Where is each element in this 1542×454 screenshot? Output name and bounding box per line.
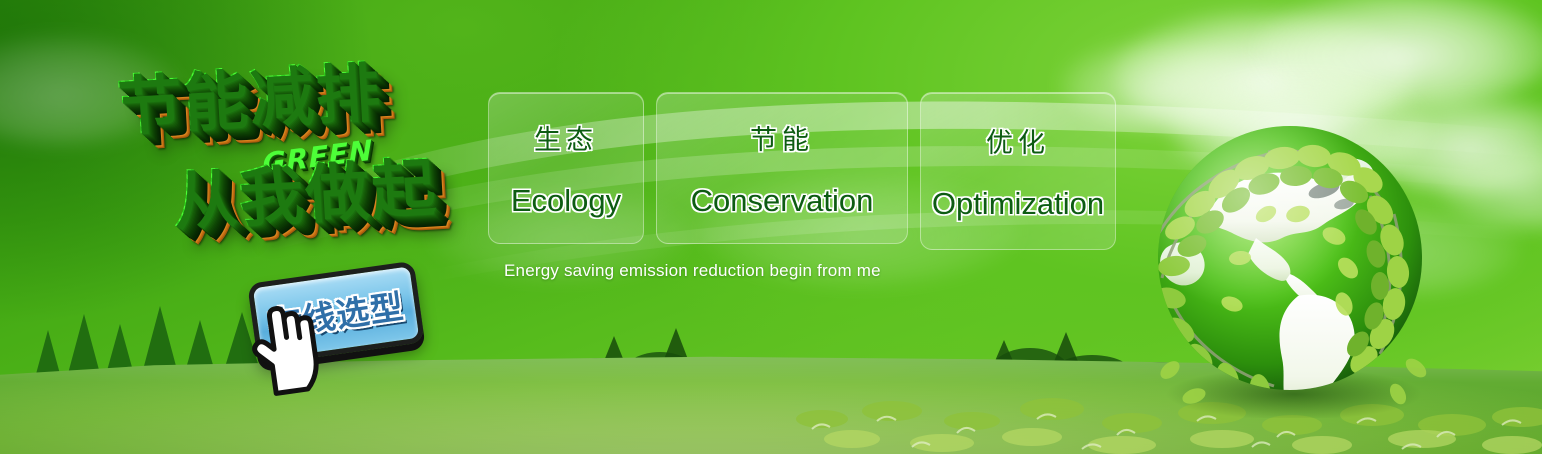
- feature-card-cn-label: 节能: [750, 118, 814, 157]
- hero-line-2: 从我做起: [170, 136, 439, 243]
- feature-card-cn-label: 生态: [534, 118, 598, 157]
- hand-pointer-icon: [240, 300, 326, 396]
- feature-card-optimization[interactable]: 优化 Optimization: [920, 92, 1116, 250]
- feature-card-en-label: Conservation: [691, 183, 874, 219]
- hero-line-1: 节能减排: [114, 41, 383, 148]
- leafy-earth-globe-icon: [1148, 118, 1438, 418]
- feature-card-ecology[interactable]: 生态 Ecology: [488, 92, 644, 244]
- banner-tagline: Energy saving emission reduction begin f…: [504, 261, 881, 281]
- feature-card-en-label: Ecology: [511, 183, 621, 219]
- feature-card-conservation[interactable]: 节能 Conservation: [656, 92, 908, 244]
- feature-card-cn-label: 优化: [986, 121, 1050, 160]
- green-energy-banner: 节能减排 GREEN 从我做起 在线选型 生态 Ecology 节能 Conse…: [0, 0, 1542, 454]
- feature-card-en-label: Optimization: [932, 186, 1104, 222]
- feature-card-list: 生态 Ecology 节能 Conservation 优化 Optimizati…: [488, 92, 1116, 250]
- hero-logo: 节能减排 GREEN 从我做起: [94, 28, 486, 279]
